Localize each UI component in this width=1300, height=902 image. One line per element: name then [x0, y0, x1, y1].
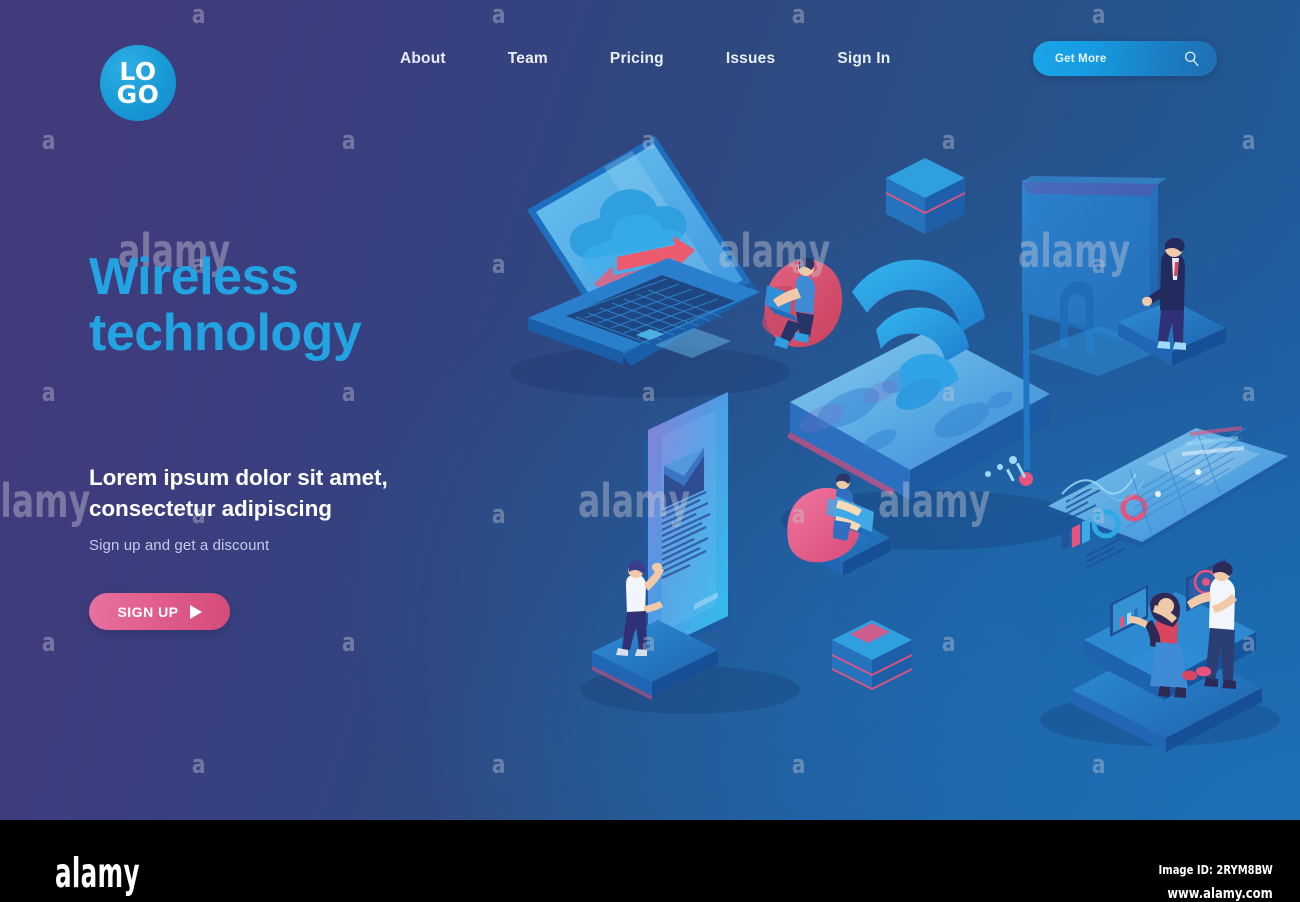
stock-photo-footer: alamy Image ID: 2RYM8BW www.alamy.com [0, 820, 1300, 902]
nav-item-issues[interactable]: Issues [726, 50, 775, 68]
nav-item-sign-in[interactable]: Sign In [837, 50, 890, 68]
monitor-rear-with-businessman [1022, 176, 1226, 376]
subhead-line-1: Lorem ipsum dolor sit amet, [89, 465, 388, 490]
laptop-with-cloud-screen [527, 136, 760, 366]
isometric-illustration [0, 0, 1300, 820]
dashboard-screen-with-charts [1046, 426, 1290, 568]
nav-item-about[interactable]: About [400, 50, 446, 68]
page-title: Wireless technology [89, 249, 519, 361]
get-more-label: Get More [1055, 53, 1106, 65]
get-more-button[interactable]: Get More [1033, 41, 1217, 76]
search-icon[interactable] [1183, 50, 1200, 67]
main-navigation: About Team Pricing Issues Sign In [400, 45, 890, 73]
site-logo[interactable]: LO GO [100, 45, 176, 121]
hero-subheading: Lorem ipsum dolor sit amet, consectetur … [89, 462, 509, 524]
hero-tagline: Sign up and get a discount [89, 537, 269, 554]
hero-section: a a a a a a a a a alamy alamy alamy a a … [0, 0, 1300, 820]
logo-line-2: GO [117, 83, 160, 106]
sign-up-button[interactable]: SIGN UP [89, 593, 230, 630]
stacked-data-cubes-top [886, 158, 965, 234]
nav-item-pricing[interactable]: Pricing [610, 50, 664, 68]
subhead-line-2: consectetur adipiscing [89, 496, 332, 521]
nav-item-team[interactable]: Team [508, 50, 548, 68]
alamy-url-label: www.alamy.com [1168, 886, 1273, 902]
screenshot-root: a a a a a a a a a alamy alamy alamy a a … [0, 0, 1300, 902]
tablet-with-document-and-envelope [592, 392, 730, 700]
person-on-red-beanbag-with-laptop [762, 258, 842, 350]
headline-line-2: technology [89, 304, 361, 362]
play-triangle-icon [190, 605, 202, 619]
stacked-data-cubes-bottom [832, 620, 912, 690]
alamy-logo: alamy [55, 853, 140, 894]
sign-up-label: SIGN UP [117, 604, 178, 620]
image-id-label: Image ID: 2RYM8BW [1159, 862, 1273, 877]
headline-line-1: Wireless [89, 248, 298, 306]
